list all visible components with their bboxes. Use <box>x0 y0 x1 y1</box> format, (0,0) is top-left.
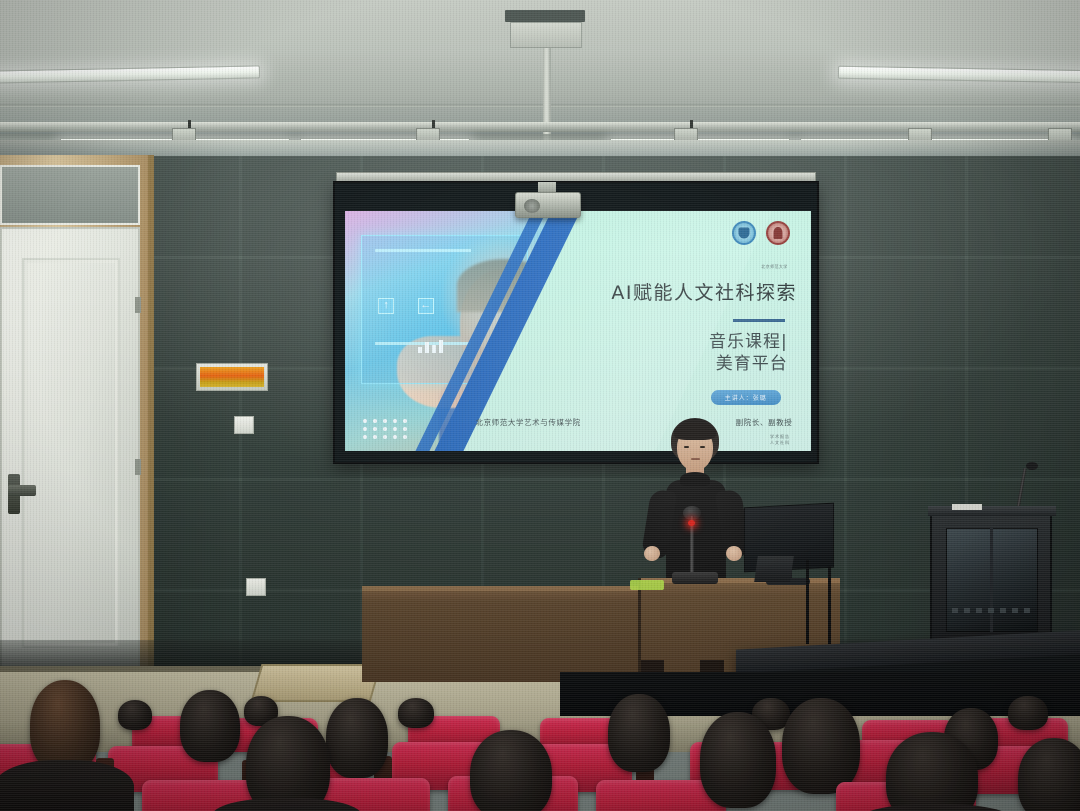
slide-title: AI赋能人文社科探索 <box>555 278 797 305</box>
audience-head <box>608 694 670 772</box>
holographic-interface: ↑ ← <box>361 235 528 384</box>
holo-bar-chart-icon <box>418 339 443 353</box>
laptop[interactable] <box>754 556 794 582</box>
presenter-mouth <box>691 458 700 460</box>
cable <box>806 560 809 644</box>
audience-head <box>398 698 434 728</box>
presenter-eye <box>700 446 705 448</box>
bell-emblem-icon <box>766 221 790 245</box>
presenter-eye <box>684 446 689 448</box>
audience-head <box>30 680 100 772</box>
speaker-badge: 主讲人：张璐 <box>711 390 781 405</box>
holo-bar <box>375 249 471 252</box>
projector-mount-plate <box>510 22 582 48</box>
slide-logos <box>732 221 790 245</box>
door-panel <box>22 258 120 648</box>
ceiling-vent <box>505 10 585 22</box>
presenter-hair-front <box>674 423 716 440</box>
green-desk-item <box>630 580 664 590</box>
dot-grid-decoration <box>363 419 409 439</box>
audience-head <box>246 716 330 811</box>
arrow-up-icon: ↑ <box>378 298 394 314</box>
sign-face <box>200 367 264 387</box>
podium-left-section <box>362 586 642 682</box>
audience-head <box>886 732 978 811</box>
seated-audience <box>0 672 1080 811</box>
wall-outlet[interactable] <box>246 578 266 596</box>
logo-caption: 北京师范大学 <box>761 264 787 270</box>
slide-subtitle: 音乐课程| 美育平台 <box>709 331 788 376</box>
ceiling-projector <box>515 192 581 218</box>
slide-subtitle-line1: 音乐课程| <box>709 331 788 353</box>
wall-top-strip <box>0 140 1080 156</box>
podium-seam <box>638 578 641 682</box>
slide-content: ↑ ← <box>345 211 811 451</box>
slide-footnote: 学术报告 人文社科 <box>770 434 790 446</box>
audience-shoulders <box>0 760 134 811</box>
audience-head <box>118 700 152 730</box>
rack-indicator-leds <box>952 608 1032 613</box>
slide-footnote-line2: 人文社科 <box>770 440 790 446</box>
door-handle[interactable] <box>8 485 36 496</box>
audience-head <box>1008 696 1048 730</box>
door-hinge <box>135 459 141 475</box>
audience-head <box>470 730 552 811</box>
podium-microphone-base <box>672 572 718 584</box>
door-hinge <box>135 297 141 313</box>
audience-head <box>180 690 240 762</box>
papers-on-rack <box>952 504 982 510</box>
ceiling-seam <box>0 104 1080 107</box>
slide-photo: ↑ ← <box>345 211 606 451</box>
slide-divider-rule <box>733 319 785 322</box>
arrow-left-icon: ← <box>418 298 434 314</box>
audience-head <box>326 698 388 778</box>
audience-head <box>782 698 860 794</box>
presenter-collar <box>680 472 710 486</box>
rack-top-surface <box>928 506 1056 516</box>
rack-door-mullion <box>990 528 993 632</box>
audience-head <box>700 712 776 808</box>
rack-microphone-head <box>1026 462 1038 470</box>
cable <box>828 566 831 644</box>
microphone-status-led <box>688 520 695 526</box>
door-transom-window <box>0 165 140 225</box>
slide-subtitle-line2: 美育平台 <box>709 353 788 375</box>
lecture-hall-photo: ↑ ← <box>0 0 1080 811</box>
emergency-exit-sign <box>196 363 268 391</box>
university-seal-icon <box>732 221 756 245</box>
audience-head <box>1018 738 1080 811</box>
light-switch[interactable] <box>234 416 254 434</box>
